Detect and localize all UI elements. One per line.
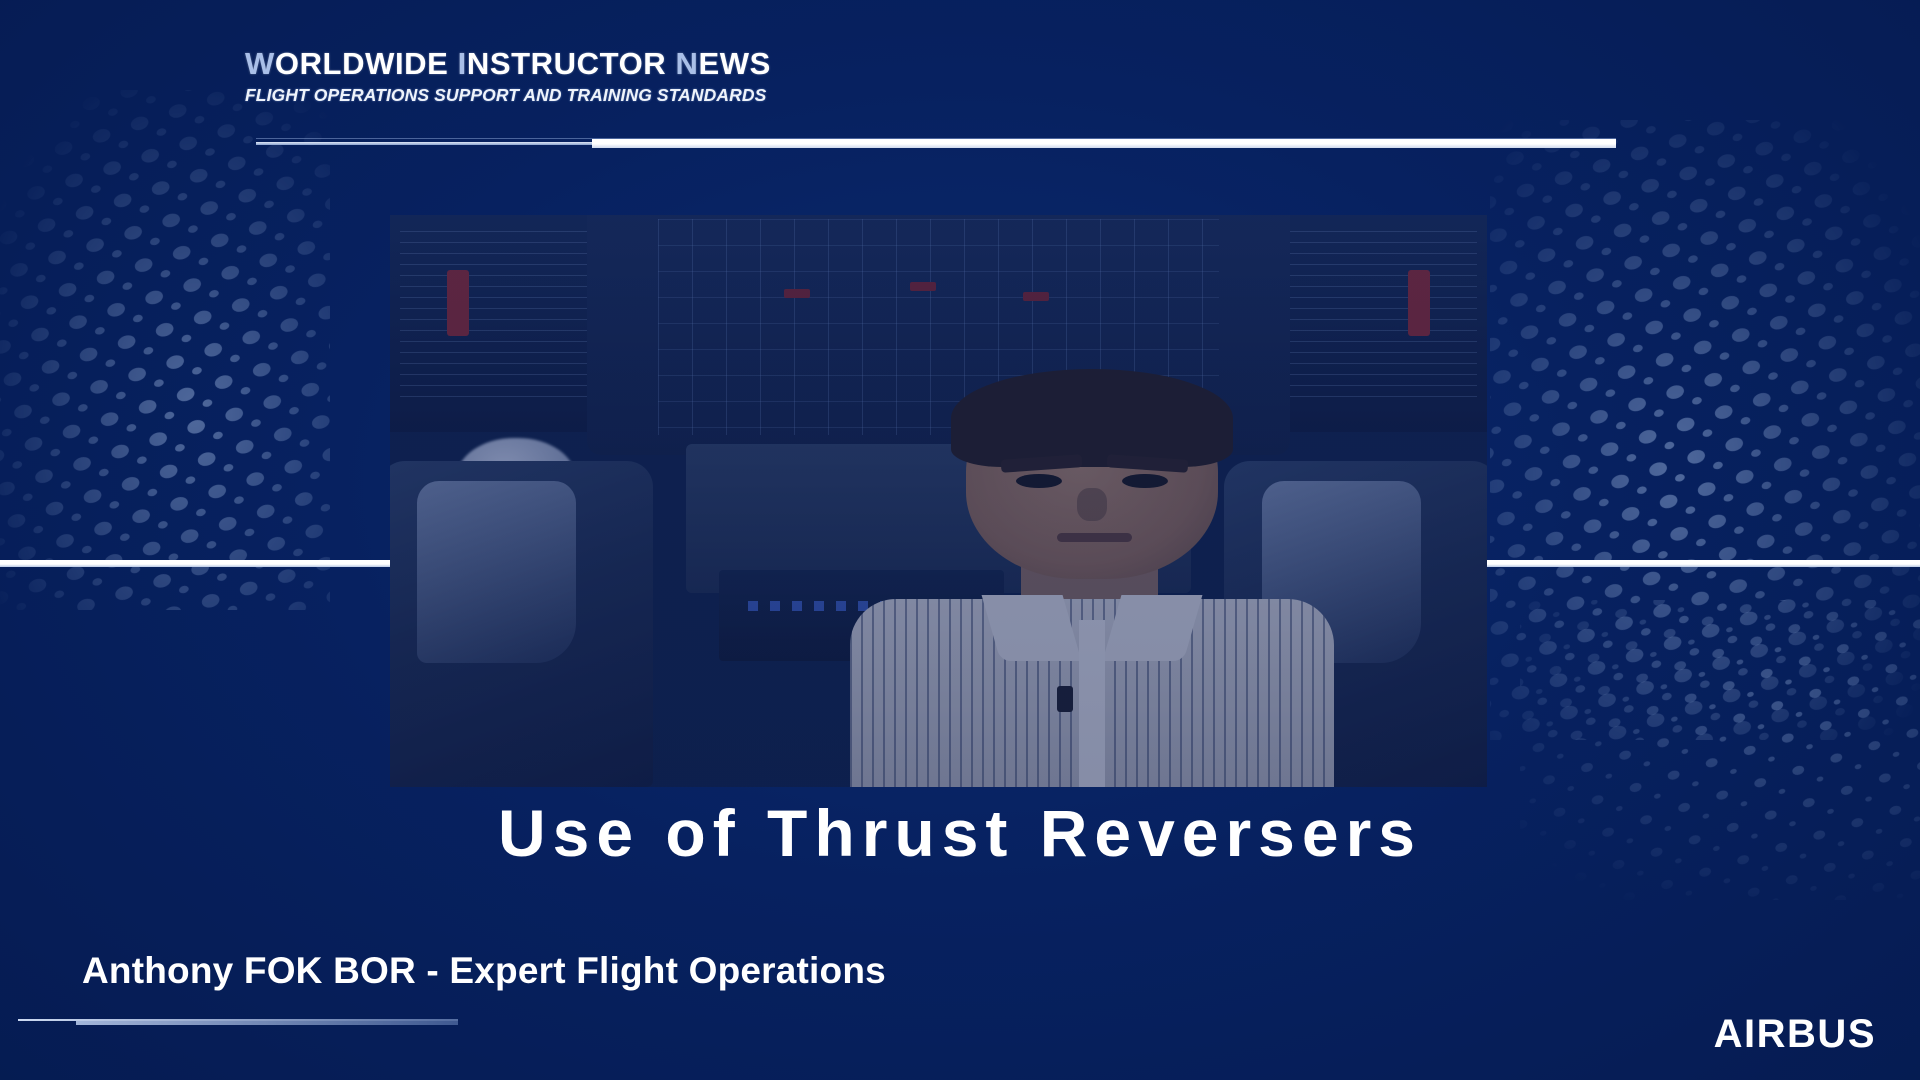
halftone-pattern-left <box>0 90 330 610</box>
header-divider-thick-segment <box>592 139 1616 148</box>
video-player-frame[interactable] <box>390 215 1487 787</box>
presenter-name-label: Anthony FOK BOR - Expert Flight Operatio… <box>82 950 886 992</box>
halftone-pattern-right <box>1490 120 1920 740</box>
brand-initial-n: N <box>676 46 699 81</box>
bottom-decorative-rule <box>18 1018 458 1028</box>
airbus-logo: AIRBUS <box>1714 1012 1876 1057</box>
presentation-slide: WORLDWIDE INSTRUCTOR NEWS FLIGHT OPERATI… <box>0 0 1920 1080</box>
header-branding: WORLDWIDE INSTRUCTOR NEWS FLIGHT OPERATI… <box>245 48 1145 106</box>
header-divider-thin-segment <box>256 142 592 145</box>
brand-title: WORLDWIDE INSTRUCTOR NEWS <box>245 48 1145 81</box>
brand-word-instructor-rest: NSTRUCTOR <box>467 46 666 81</box>
brand-word-worldwide-rest: ORLDWIDE <box>275 46 449 81</box>
mid-rule-right <box>1487 560 1920 567</box>
brand-initial-w: W <box>245 46 275 81</box>
brand-initial-i: I <box>458 46 467 81</box>
bottom-rule-line-lower <box>76 1021 458 1025</box>
video-blue-tint-overlay <box>390 215 1487 787</box>
brand-word-news-rest: EWS <box>699 46 771 81</box>
header-divider-rule <box>256 138 1616 150</box>
brand-subtitle: FLIGHT OPERATIONS SUPPORT AND TRAINING S… <box>245 85 1145 106</box>
page-title: Use of Thrust Reversers <box>0 795 1920 871</box>
mid-rule-left <box>0 560 392 567</box>
